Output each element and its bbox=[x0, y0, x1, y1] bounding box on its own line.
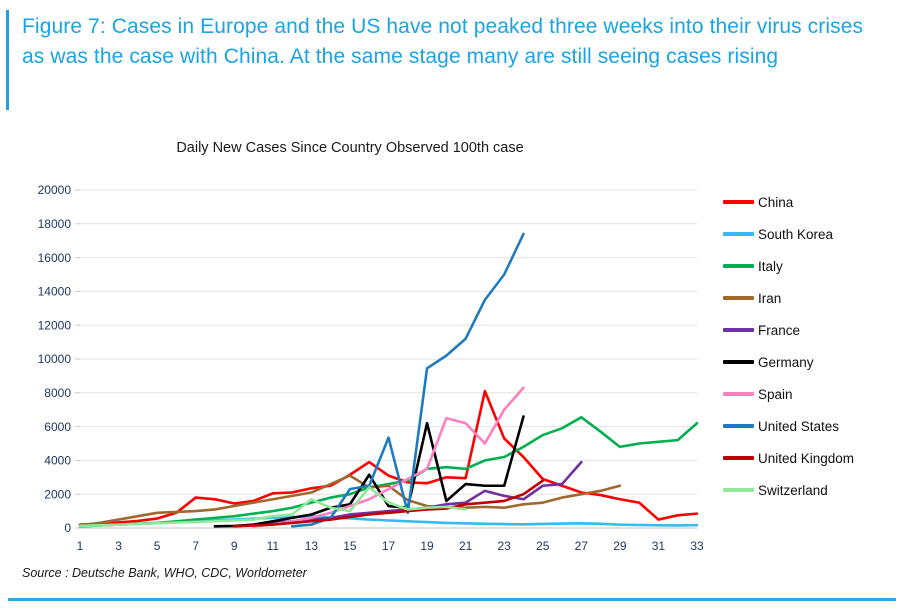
x-tick-label: 13 bbox=[305, 539, 319, 553]
legend-label: Spain bbox=[758, 387, 793, 402]
legend-item-france[interactable]: France bbox=[723, 314, 898, 346]
y-tick-label: 8000 bbox=[44, 386, 71, 400]
x-axis-ticks: 13579111315171921232527293133 bbox=[77, 539, 704, 553]
legend-swatch bbox=[723, 360, 754, 363]
legend-swatch bbox=[723, 488, 754, 491]
y-tick-label: 0 bbox=[64, 521, 71, 535]
y-axis-ticks: 0200040006000800010000120001400016000180… bbox=[38, 183, 72, 535]
page-title: Figure 7: Cases in Europe and the US hav… bbox=[22, 12, 867, 72]
x-tick-label: 17 bbox=[382, 539, 396, 553]
x-tick-label: 1 bbox=[77, 539, 84, 553]
x-tick-label: 29 bbox=[613, 539, 627, 553]
legend-item-south-korea[interactable]: South Korea bbox=[723, 218, 898, 250]
y-tick-label: 18000 bbox=[38, 217, 72, 231]
series-line-germany bbox=[215, 416, 523, 526]
y-tick-label: 2000 bbox=[44, 487, 71, 501]
legend-item-china[interactable]: China bbox=[723, 186, 898, 218]
legend-item-iran[interactable]: Iran bbox=[723, 282, 898, 314]
x-tick-label: 31 bbox=[652, 539, 666, 553]
legend-item-united-states[interactable]: United States bbox=[723, 410, 898, 442]
y-tick-label: 10000 bbox=[38, 352, 72, 366]
legend-swatch bbox=[723, 232, 754, 235]
legend-label: Switzerland bbox=[758, 483, 828, 498]
legend-label: United States bbox=[758, 419, 839, 434]
x-tick-label: 5 bbox=[154, 539, 161, 553]
x-tick-label: 11 bbox=[267, 539, 280, 553]
x-tick-label: 19 bbox=[420, 539, 434, 553]
legend-label: France bbox=[758, 323, 800, 338]
legend-swatch bbox=[723, 296, 754, 299]
footer-rule bbox=[8, 598, 896, 601]
legend-item-switzerland[interactable]: Switzerland bbox=[723, 474, 898, 506]
x-tick-label: 3 bbox=[115, 539, 122, 553]
x-tick-label: 7 bbox=[192, 539, 199, 553]
y-tick-label: 4000 bbox=[44, 454, 71, 468]
legend-label: Germany bbox=[758, 355, 814, 370]
legend-label: Iran bbox=[758, 291, 781, 306]
legend-swatch bbox=[723, 456, 754, 459]
legend-swatch bbox=[723, 424, 754, 427]
x-tick-label: 25 bbox=[536, 539, 550, 553]
x-tick-label: 21 bbox=[459, 539, 473, 553]
legend-label: China bbox=[758, 195, 793, 210]
legend-item-germany[interactable]: Germany bbox=[723, 346, 898, 378]
gridlines bbox=[75, 190, 697, 528]
y-tick-label: 6000 bbox=[44, 420, 71, 434]
legend-swatch bbox=[723, 200, 754, 203]
y-tick-label: 16000 bbox=[38, 251, 72, 265]
header-accent-bar bbox=[6, 10, 9, 110]
legend-label: Italy bbox=[758, 259, 783, 274]
legend-swatch bbox=[723, 264, 754, 267]
data-series bbox=[80, 234, 697, 526]
source-note: Source : Deutsche Bank, WHO, CDC, Worldo… bbox=[22, 566, 307, 580]
y-tick-label: 14000 bbox=[38, 285, 72, 299]
legend-swatch bbox=[723, 328, 754, 331]
x-tick-label: 23 bbox=[498, 539, 512, 553]
legend-label: United Kingdom bbox=[758, 451, 854, 466]
y-tick-label: 12000 bbox=[38, 318, 72, 332]
legend-label: South Korea bbox=[758, 227, 833, 242]
legend-item-italy[interactable]: Italy bbox=[723, 250, 898, 282]
figure-header: Figure 7: Cases in Europe and the US hav… bbox=[0, 0, 904, 118]
x-tick-label: 33 bbox=[690, 539, 704, 553]
y-tick-label: 20000 bbox=[38, 183, 72, 197]
legend-item-spain[interactable]: Spain bbox=[723, 378, 898, 410]
legend-item-united-kingdom[interactable]: United Kingdom bbox=[723, 442, 898, 474]
x-tick-label: 9 bbox=[231, 539, 238, 553]
chart-legend: ChinaSouth KoreaItalyIranFranceGermanySp… bbox=[723, 186, 898, 506]
legend-swatch bbox=[723, 392, 754, 395]
x-tick-label: 15 bbox=[343, 539, 357, 553]
x-tick-label: 27 bbox=[575, 539, 589, 553]
